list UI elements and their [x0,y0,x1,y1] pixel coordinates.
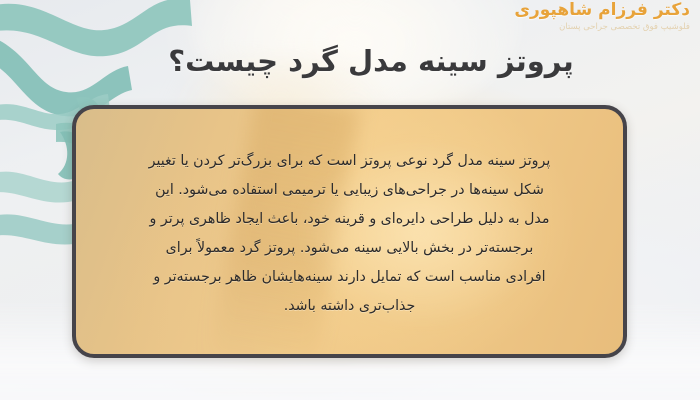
card-body-text: پروتز سینه مدل گرد نوعی پروتز است که برا… [102,147,597,321]
body-line: مدل به دلیل طراحی دایره‌ای و قرینه خود، … [102,205,597,234]
content-card: پروتز سینه مدل گرد نوعی پروتز است که برا… [72,105,627,358]
clinic-logo[interactable]: دکتر فرزام شاهپوری فلوشیپ فوق تخصصی جراح… [514,2,690,32]
page-title: پروتز سینه مدل گرد چیست؟ [60,44,682,78]
body-line: جذاب‌تری داشته باشد. [102,292,597,321]
body-line: افرادی مناسب است که تمایل دارند سینه‌های… [102,263,597,292]
slide-canvas: دکتر فرزام شاهپوری فلوشیپ فوق تخصصی جراح… [0,0,700,400]
logo-doctor-name: دکتر فرزام شاهپوری [514,2,690,19]
body-line: شکل سینه‌ها در جراحی‌های زیبایی یا ترمیم… [102,176,597,205]
body-line: برجسته‌تر در بخش بالایی سینه می‌شود. پرو… [102,234,597,263]
body-line: پروتز سینه مدل گرد نوعی پروتز است که برا… [102,147,597,176]
logo-subtitle: فلوشیپ فوق تخصصی جراحی پستان [514,23,690,32]
